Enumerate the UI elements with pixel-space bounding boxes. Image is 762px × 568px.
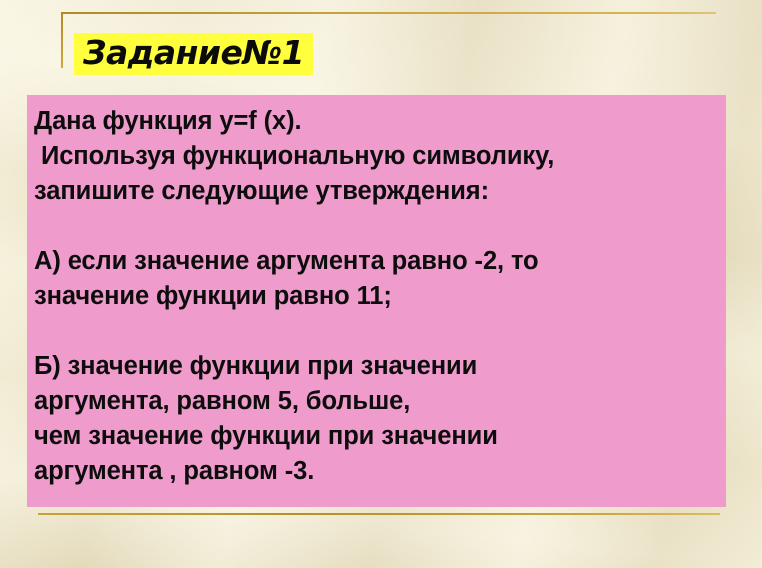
task-content-panel: Дана функция y=f (x). Используя функцион… bbox=[27, 95, 726, 507]
slide-canvas: Задание№1 Дана функция y=f (x). Использу… bbox=[0, 0, 762, 568]
decorative-rule-left bbox=[61, 12, 63, 68]
decorative-rule-top bbox=[61, 12, 716, 14]
slide-title: Задание№1 bbox=[83, 36, 304, 69]
paragraph-spacer bbox=[34, 314, 726, 349]
task-item-a-paragraph: А) если значение аргумента равно -2, то … bbox=[34, 244, 726, 314]
paragraph-spacer bbox=[34, 209, 726, 244]
decorative-rule-bottom bbox=[38, 513, 720, 515]
task-text-block: Дана функция y=f (x). Используя функцион… bbox=[34, 104, 726, 489]
slide-title-highlight: Задание№1 bbox=[74, 33, 313, 75]
task-item-b-paragraph: Б) значение функции при значении аргумен… bbox=[34, 349, 726, 489]
task-intro-paragraph: Дана функция y=f (x). Используя функцион… bbox=[34, 104, 726, 209]
